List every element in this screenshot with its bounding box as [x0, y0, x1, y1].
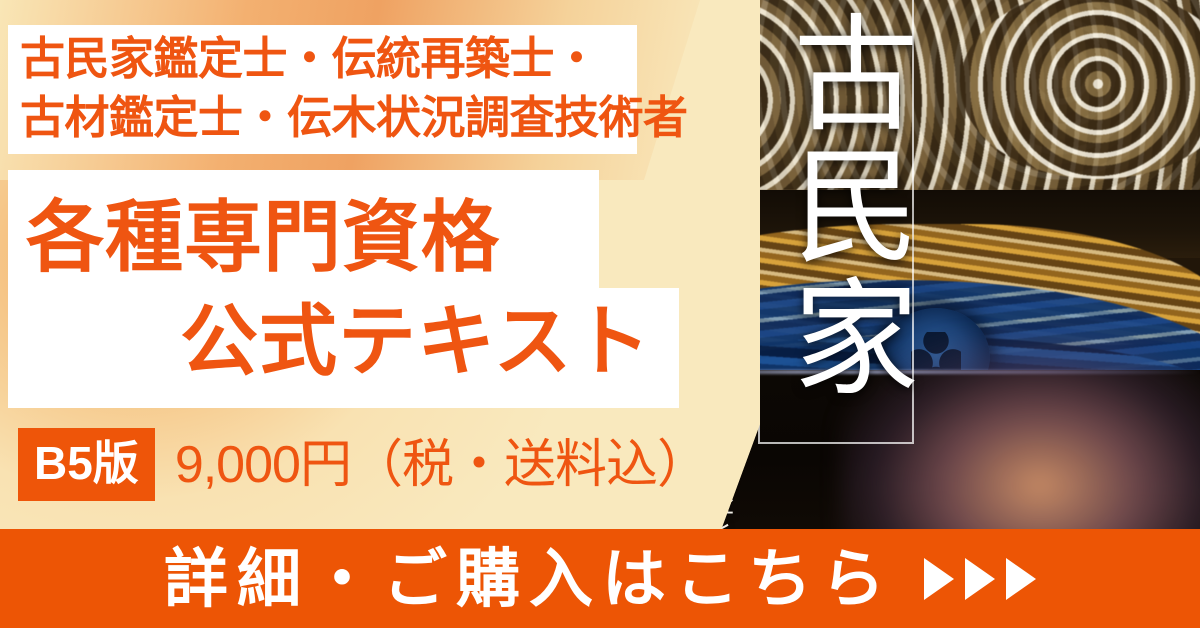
cta-bar[interactable]: 詳細・ご購入はこちら: [0, 529, 1200, 628]
qualifications-line-2: 古材鑑定士・伝木状況調査技術者: [20, 88, 720, 147]
play-arrow-icon: [1006, 558, 1036, 600]
price-amount: 9,000円（税・送料込）: [175, 439, 708, 491]
promo-banner: 古民家 伝統構法、古民家活用のための調査と再生の 古民家鑑定士・伝統再築士・ 古…: [0, 0, 1200, 628]
cover-title-vertical: 古民家: [796, 8, 916, 404]
headline-text: 各種専門資格 公式テキスト: [22, 186, 682, 393]
price-row: B5版 9,000円（税・送料込）: [18, 428, 708, 501]
cta-arrow-group: [924, 558, 1036, 600]
qualifications-text: 古民家鑑定士・伝統再築士・ 古材鑑定士・伝木状況調査技術者: [20, 29, 720, 148]
cta-label: 詳細・ご購入はこちら: [164, 547, 894, 611]
size-badge: B5版: [18, 428, 155, 501]
headline-line-1: 各種専門資格: [22, 186, 682, 290]
qualifications-line-1: 古民家鑑定士・伝統再築士・: [20, 29, 720, 88]
headline-line-2: 公式テキスト: [22, 290, 682, 394]
play-arrow-icon: [924, 558, 954, 600]
play-arrow-icon: [965, 558, 995, 600]
